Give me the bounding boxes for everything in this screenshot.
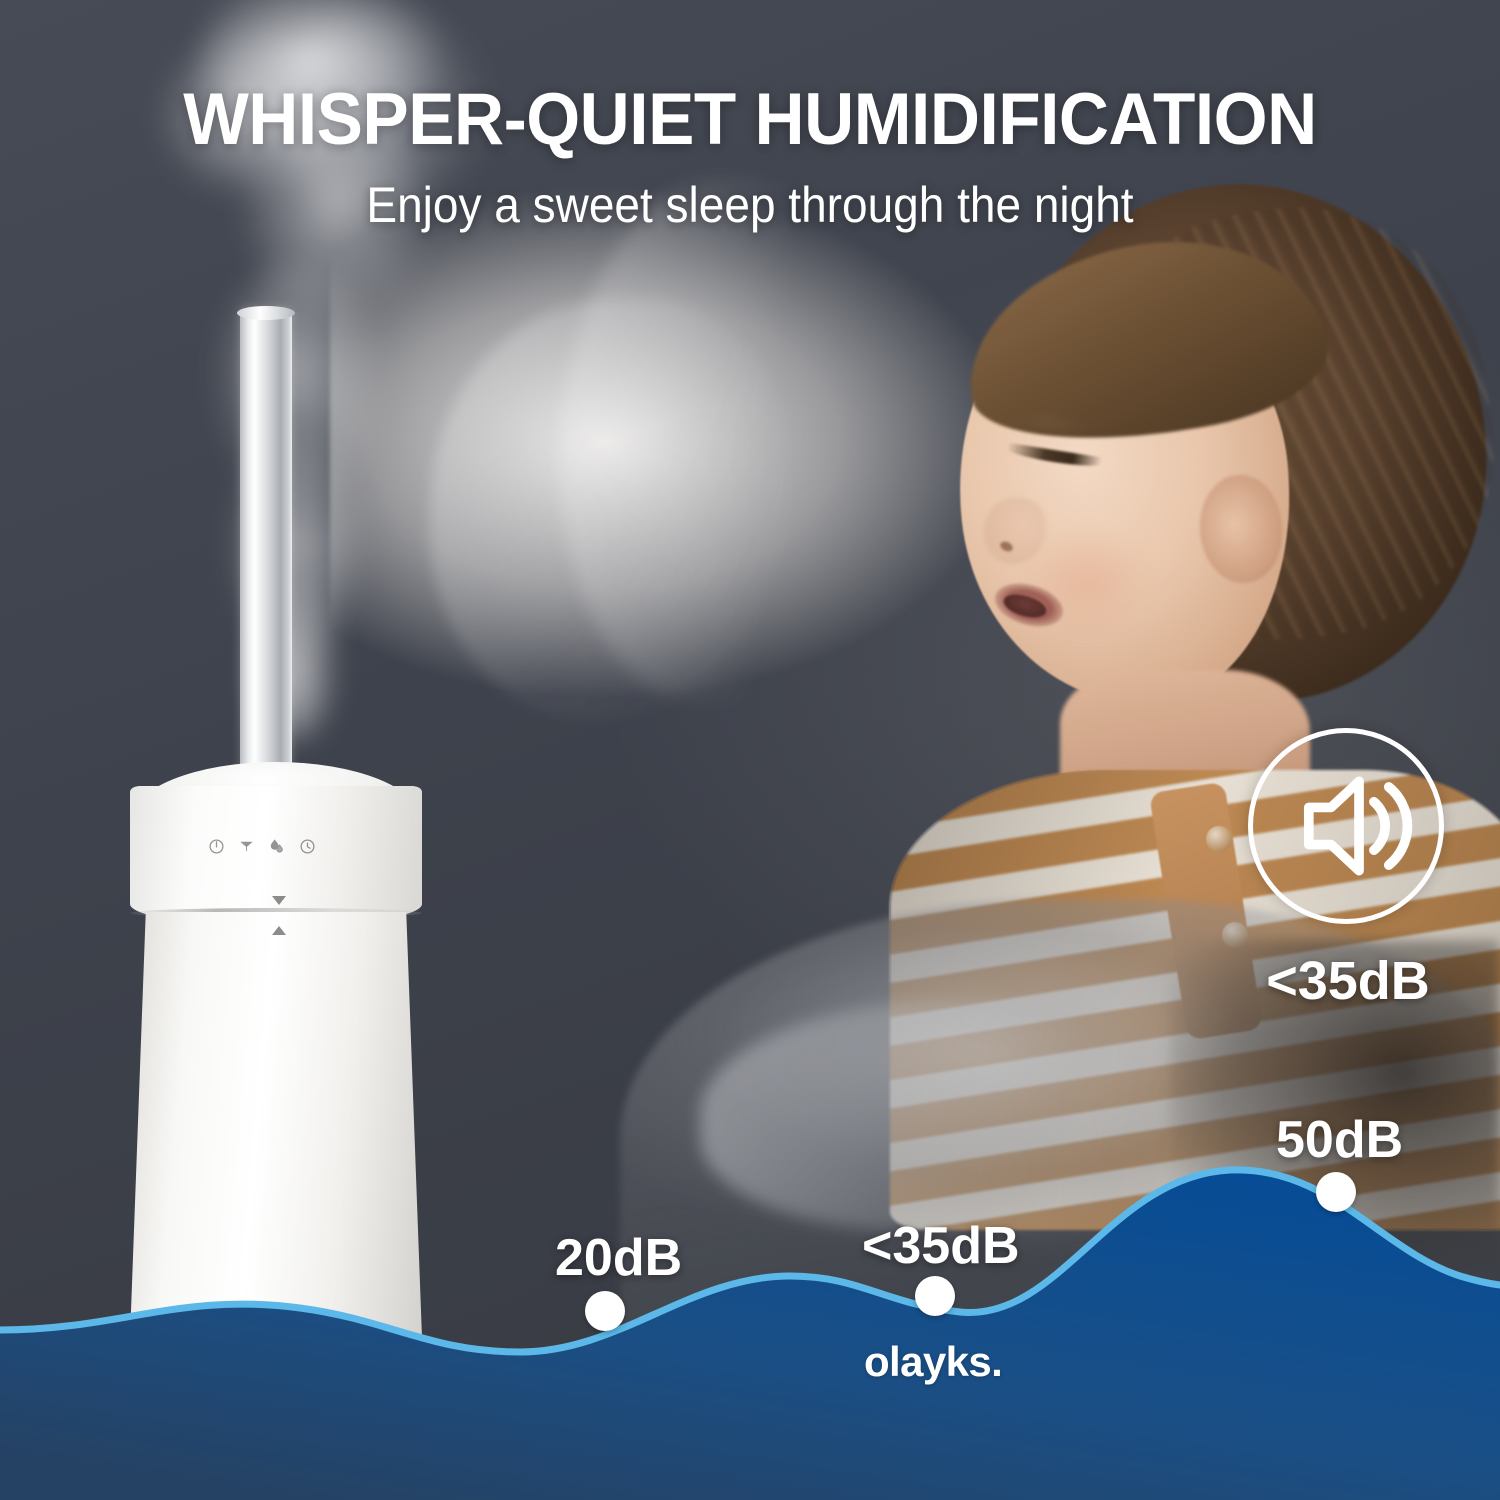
- product-marketing-image: WHISPER-QUIET HUMIDIFICATION Enjoy a swe…: [0, 0, 1500, 1500]
- data-point-dot: [585, 1291, 625, 1331]
- wave-graphic: [0, 1080, 1500, 1500]
- timer-icon[interactable]: [299, 838, 316, 855]
- brand-logo: olayks.: [864, 1338, 1002, 1386]
- data-point-label: <35dB: [862, 1216, 1020, 1276]
- noise-level-badge: <35dB: [1248, 728, 1448, 1012]
- data-point-label: 50dB: [1276, 1110, 1403, 1170]
- noise-wave-chart: [0, 1080, 1500, 1500]
- control-panel[interactable]: [208, 838, 316, 855]
- mist-level-icon[interactable]: [238, 838, 255, 855]
- humidifier-upper-body: [130, 786, 422, 926]
- shirt-button: [1206, 826, 1232, 852]
- humidity-mode-icon[interactable]: [269, 838, 286, 855]
- data-point-dot: [1316, 1172, 1356, 1212]
- mist-nozzle-rim: [237, 306, 295, 320]
- page-subtitle: Enjoy a sweet sleep through the night: [60, 176, 1440, 234]
- badge-label: <35dB: [1248, 950, 1448, 1012]
- data-point-label: 20dB: [555, 1228, 682, 1288]
- wave-fill: [0, 1170, 1500, 1500]
- data-point-dot: [915, 1276, 955, 1316]
- mist-nozzle-tube: [240, 308, 292, 800]
- speaker-volume-icon: [1253, 733, 1439, 919]
- power-icon[interactable]: [208, 838, 225, 855]
- badge-circle-outline: [1248, 728, 1444, 924]
- lock-arrow-down-icon: [272, 896, 286, 905]
- page-title: WHISPER-QUIET HUMIDIFICATION: [38, 78, 1463, 161]
- lock-arrow-up-icon: [272, 926, 286, 935]
